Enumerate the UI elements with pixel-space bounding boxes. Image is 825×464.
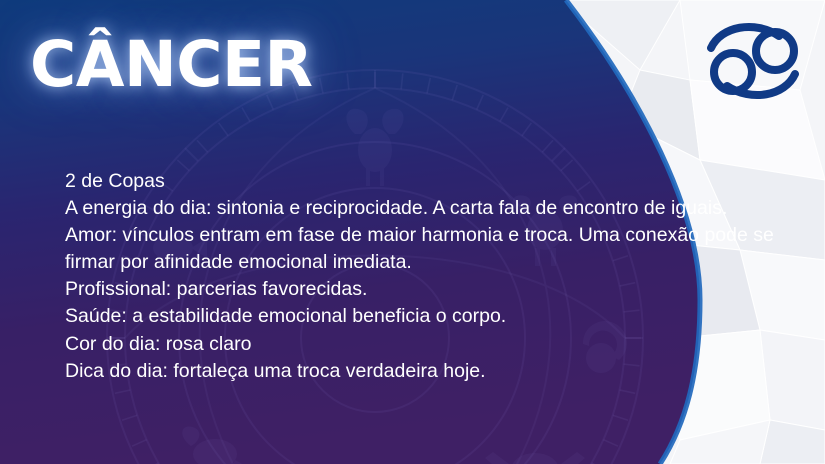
horoscope-card: CÂNCER 2 de Copas A energia do dia: sint…	[0, 0, 825, 464]
reading-line: Saúde: a estabilidade emocional benefici…	[65, 303, 755, 330]
reading-line: A energia do dia: sintonia e reciprocida…	[65, 195, 755, 222]
reading-line: Amor: vínculos entram em fase de maior h…	[65, 222, 755, 249]
horoscope-text: 2 de Copas A energia do dia: sintonia e …	[65, 168, 755, 385]
page-title: CÂNCER	[30, 33, 313, 96]
reading-line: 2 de Copas	[65, 168, 755, 195]
reading-line: Profissional: parcerias favorecidas.	[65, 276, 755, 303]
cancer-zodiac-icon	[697, 14, 809, 108]
reading-line: Dica do dia: fortaleça uma troca verdade…	[65, 358, 755, 385]
reading-line: firmar por afinidade emocional imediata.	[65, 249, 755, 276]
reading-line: Cor do dia: rosa claro	[65, 331, 755, 358]
